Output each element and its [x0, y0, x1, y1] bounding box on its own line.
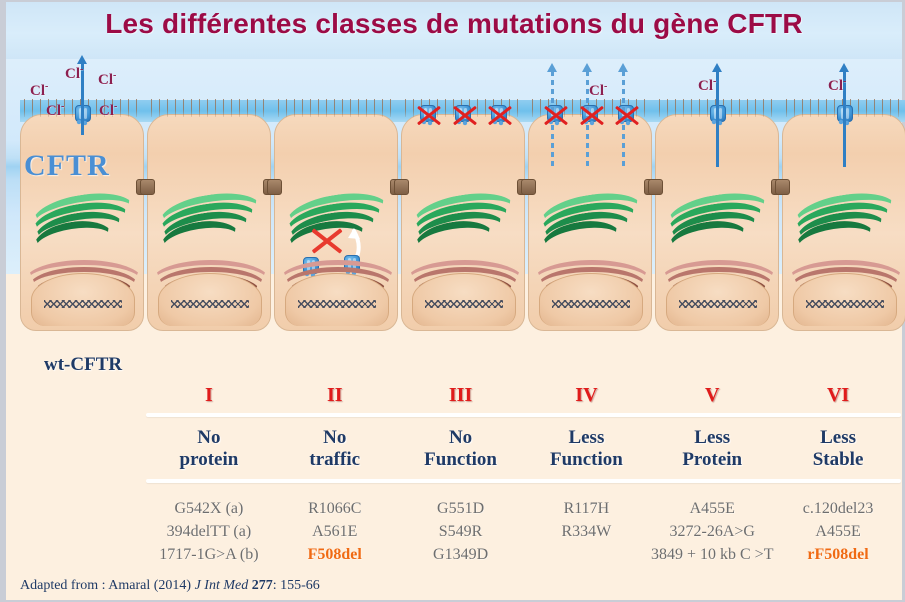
chloride-label: Cl-: [65, 64, 83, 83]
golgi-icon: [666, 195, 764, 247]
tight-junction-icon: [267, 179, 282, 195]
chloride-label: Cl-: [46, 101, 64, 120]
dna-icon: [298, 300, 376, 308]
citation-pages: : 155-66: [273, 578, 320, 593]
citation-prefix: Adapted from : Amaral (2014): [20, 578, 195, 593]
nucleus-icon: [412, 273, 516, 326]
mutation-item: S549R: [398, 520, 524, 543]
page-title: Les différentes classes de mutations du …: [6, 8, 902, 40]
class-VI-cell: [782, 114, 905, 331]
mutation-item-highlighted: rF508del: [775, 543, 901, 566]
mutation-item-highlighted: F508del: [272, 543, 398, 566]
golgi-icon: [31, 195, 129, 247]
tight-junction-icon: [648, 179, 663, 195]
class-numeral: II: [272, 382, 398, 411]
dna-icon: [44, 300, 122, 308]
mutation-item: A455E: [775, 520, 901, 543]
cilia-icon: [275, 99, 397, 117]
dna-icon: [552, 300, 630, 308]
mutation-column: R1066C A561E F508del: [272, 497, 398, 566]
golgi-icon: [158, 195, 256, 247]
cilia-icon: [148, 99, 270, 117]
class-description: LessStable: [775, 423, 901, 477]
class-IV-cell: [528, 114, 652, 331]
wt-cftr-label: wt-CFTR: [44, 354, 122, 376]
epithelial-cell-row: [20, 114, 905, 329]
mutation-column: c.120del23 A455E rF508del: [775, 497, 901, 566]
nucleus-icon: [158, 273, 262, 326]
cftr-channel-icon: [419, 105, 435, 127]
chloride-label: Cl-: [589, 81, 607, 100]
mutation-item: 3849 + 10 kb C >T: [649, 543, 775, 566]
tight-junction-icon: [775, 179, 790, 195]
dna-icon: [425, 300, 503, 308]
cftr-channel-icon: [581, 105, 597, 127]
mutation-column: G551D S549R G1349D: [398, 497, 524, 566]
mutation-item: 1717-1G>A (b): [146, 543, 272, 566]
table-divider: [146, 479, 901, 483]
mutation-item: 394delTT (a): [146, 520, 272, 543]
citation-volume: 277: [248, 578, 273, 593]
mutation-item: R1066C: [272, 497, 398, 520]
mutation-item: A455E: [649, 497, 775, 520]
chloride-arrow-icon: [622, 71, 625, 167]
nucleus-icon: [285, 273, 389, 326]
dna-icon: [679, 300, 757, 308]
class-numeral: IV: [523, 382, 649, 411]
mutation-list-row: G542X (a) 394delTT (a) 1717-1G>A (b) R10…: [146, 489, 901, 566]
tight-junction-icon: [140, 179, 155, 195]
dna-icon: [171, 300, 249, 308]
class-numeral: VI: [775, 382, 901, 411]
chloride-label: Cl-: [99, 101, 117, 120]
slide-root: Les différentes classes de mutations du …: [0, 0, 905, 602]
cftr-channel-icon: [617, 105, 633, 127]
mutation-item: A561E: [272, 520, 398, 543]
mutation-class-table: I II III IV V VI Noprotein Notraffic NoF…: [146, 382, 901, 566]
class-V-cell: [655, 114, 779, 331]
nucleus-icon: [666, 273, 770, 326]
class-II-cell: [274, 114, 398, 331]
class-numeral-row: I II III IV V VI: [146, 382, 901, 411]
class-description: Notraffic: [272, 423, 398, 477]
mutation-item: G1349D: [398, 543, 524, 566]
mutation-item: G542X (a): [146, 497, 272, 520]
class-description: NoFunction: [398, 423, 524, 477]
mutation-column: A455E 3272-26A>G 3849 + 10 kb C >T: [649, 497, 775, 566]
class-description-row: Noprotein Notraffic NoFunction LessFunct…: [146, 423, 901, 477]
class-numeral: V: [649, 382, 775, 411]
dna-icon: [806, 300, 884, 308]
chloride-label: Cl-: [98, 70, 116, 89]
cftr-channel-icon: [546, 105, 562, 127]
mutation-item: R117H: [523, 497, 649, 520]
chloride-label: Cl-: [698, 76, 716, 95]
class-numeral: III: [398, 382, 524, 411]
class-description: LessFunction: [523, 423, 649, 477]
nucleus-icon: [31, 273, 135, 326]
citation-journal: J Int Med: [195, 578, 249, 593]
table-divider: [146, 413, 901, 417]
cftr-channel-icon: [490, 105, 506, 127]
cftr-channel-icon: [454, 105, 470, 127]
nucleus-icon: [539, 273, 643, 326]
mutation-item: c.120del23: [775, 497, 901, 520]
mutation-item: 3272-26A>G: [649, 520, 775, 543]
mutation-item: G551D: [398, 497, 524, 520]
class-I-cell: [147, 114, 271, 331]
golgi-icon: [539, 195, 637, 247]
title-band: Les différentes classes de mutations du …: [6, 2, 902, 59]
class-description: LessProtein: [649, 423, 775, 477]
chloride-label: Cl-: [30, 81, 48, 100]
chloride-arrow-icon: [551, 71, 554, 167]
nucleus-icon: [793, 273, 897, 326]
mutation-column: R117H R334W: [523, 497, 649, 566]
mutation-column: G542X (a) 394delTT (a) 1717-1G>A (b): [146, 497, 272, 566]
golgi-icon: [793, 195, 891, 247]
class-III-cell: [401, 114, 525, 331]
golgi-icon: [412, 195, 510, 247]
class-description: Noprotein: [146, 423, 272, 477]
wild-type-cell: [20, 114, 144, 331]
tight-junction-icon: [394, 179, 409, 195]
source-citation: Adapted from : Amaral (2014) J Int Med 2…: [20, 578, 320, 594]
mutation-item: R334W: [523, 520, 649, 543]
tight-junction-icon: [521, 179, 536, 195]
class-numeral: I: [146, 382, 272, 411]
chloride-label: Cl-: [828, 76, 846, 95]
